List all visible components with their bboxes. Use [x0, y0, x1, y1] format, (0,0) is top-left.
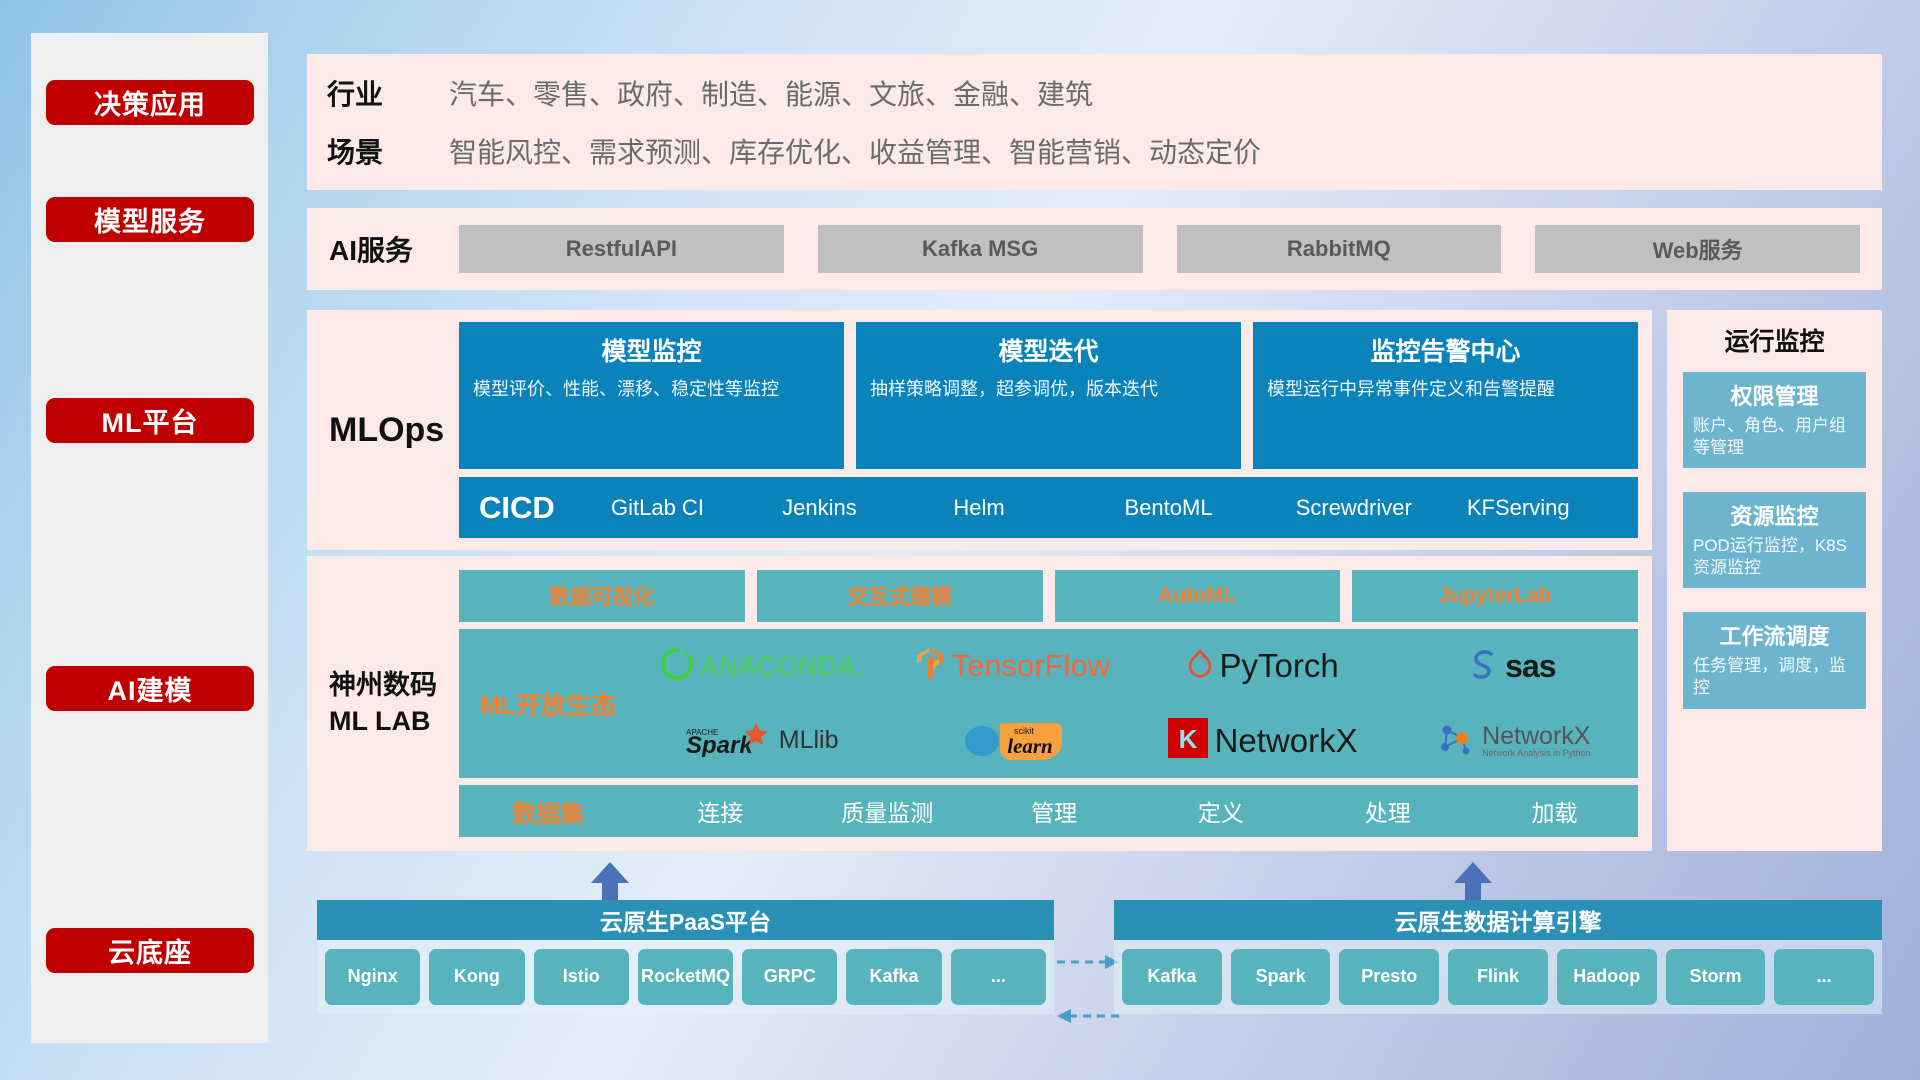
- ai-service-label: AI服务: [307, 229, 459, 269]
- card-body: 模型评价、性能、漂移、稳定性等监控: [473, 377, 830, 401]
- bidirectional-exchange-arrows-icon: [1057, 948, 1119, 1030]
- industry-scenario-values: 汽车、零售、政府、制造、能源、文旅、金融、建筑 智能风控、需求预测、库存优化、收…: [449, 64, 1882, 180]
- card-title: 监控告警中心: [1370, 332, 1520, 368]
- industry-label: 行业: [327, 64, 449, 122]
- ml-open-ecosystem-band: ML开放生态 ANACONDA.: [459, 629, 1638, 778]
- mlops-card-model-monitoring[interactable]: 模型监控 模型评价、性能、漂移、稳定性等监控: [459, 322, 844, 469]
- tool-chip-jupyterlab[interactable]: JupyterLab: [1352, 570, 1638, 622]
- cicd-item-group: GitLab CI Jenkins Helm BentoML Screwdriv…: [611, 494, 1638, 522]
- engine-item-group: Kafka Spark Presto Flink Hadoop Storm ..…: [1114, 940, 1882, 1014]
- card-body: 账户、角色、用户组等管理: [1693, 415, 1856, 459]
- runtime-monitoring-panel: 运行监控 权限管理 账户、角色、用户组等管理 资源监控 POD运行监控，K8S资…: [1667, 310, 1882, 851]
- tool-chip-interactive-modeling[interactable]: 交互式建模: [757, 570, 1043, 622]
- industry-scenario-labels: 行业 场景: [307, 64, 449, 180]
- svg-text:Spark: Spark: [686, 732, 754, 757]
- paas-item-kafka[interactable]: Kafka: [846, 949, 941, 1005]
- engine-item-kafka[interactable]: Kafka: [1122, 949, 1222, 1005]
- data-compute-engine-header: 云原生数据计算引擎: [1114, 900, 1882, 940]
- keras-mark-icon: K: [1168, 718, 1208, 763]
- logo-spark-mllib[interactable]: APACHE Spark MLlib: [637, 719, 887, 762]
- rail-chip-label: AI建模: [108, 669, 193, 708]
- mlops-label: MLOps: [307, 310, 459, 550]
- engine-item-more[interactable]: ...: [1774, 949, 1874, 1005]
- ml-lab-label: 神州数码 ML LAB: [307, 556, 459, 851]
- card-body: POD运行监控，K8S资源监控: [1693, 535, 1856, 579]
- industry-value: 汽车、零售、政府、制造、能源、文旅、金融、建筑: [449, 64, 1882, 122]
- tensorflow-wordmark: TensorFlow: [952, 648, 1111, 684]
- paas-item-grpc[interactable]: GRPC: [742, 949, 837, 1005]
- dataset-title: 数据集: [459, 794, 637, 829]
- keras-wordmark: NetworkX: [1215, 722, 1358, 760]
- card-body: 抽样策略调整，超参调优，版本迭代: [870, 377, 1227, 401]
- rail-chip-model-service[interactable]: 模型服务: [46, 197, 254, 242]
- ecosystem-logo-row: APACHE Spark MLlib: [637, 704, 1638, 779]
- dataset-item-load[interactable]: 加载: [1471, 794, 1638, 828]
- paas-item-group: Nginx Kong Istio RocketMQ GRPC Kafka ...: [317, 940, 1054, 1014]
- anaconda-wordmark: ANACONDA.: [701, 651, 865, 682]
- mllib-wordmark: MLlib: [779, 726, 839, 755]
- tool-chip-data-visualization[interactable]: 数据可视化: [459, 570, 745, 622]
- rail-chip-label: 模型服务: [94, 200, 206, 239]
- paas-item-nginx[interactable]: Nginx: [325, 949, 420, 1005]
- logo-scikit-learn[interactable]: scikit learn: [887, 715, 1137, 766]
- paas-item-rocketmq[interactable]: RocketMQ: [638, 949, 733, 1005]
- industry-scenario-panel: 行业 场景 汽车、零售、政府、制造、能源、文旅、金融、建筑 智能风控、需求预测、…: [307, 54, 1882, 190]
- mlops-card-group: 模型监控 模型评价、性能、漂移、稳定性等监控 模型迭代 抽样策略调整，超参调优，…: [459, 322, 1638, 469]
- scenario-value: 智能风控、需求预测、库存优化、收益管理、智能营销、动态定价: [449, 122, 1882, 180]
- dataset-bar: 数据集 连接 质量监测 管理 定义 处理 加载: [459, 785, 1638, 837]
- rail-chip-ml-platform[interactable]: ML平台: [46, 398, 254, 443]
- cicd-item-gitlab-ci[interactable]: GitLab CI: [611, 494, 782, 522]
- card-title: 模型迭代: [998, 332, 1098, 368]
- cicd-item-bentoml[interactable]: BentoML: [1125, 494, 1296, 522]
- logo-keras[interactable]: K NetworkX: [1138, 718, 1388, 763]
- ml-open-ecosystem-label: ML开放生态: [459, 686, 637, 722]
- paas-item-kong[interactable]: Kong: [429, 949, 524, 1005]
- engine-item-hadoop[interactable]: Hadoop: [1557, 949, 1657, 1005]
- engine-item-spark[interactable]: Spark: [1231, 949, 1331, 1005]
- paas-item-istio[interactable]: Istio: [534, 949, 629, 1005]
- mlops-panel: MLOps 模型监控 模型评价、性能、漂移、稳定性等监控 模型迭代 抽样策略调整…: [307, 310, 1652, 550]
- networkx-mark-icon: [1435, 718, 1475, 763]
- rail-chip-cloud-base[interactable]: 云底座: [46, 928, 254, 973]
- networkx-wordmark: NetworkX: [1482, 724, 1591, 749]
- paas-platform-panel: 云原生PaaS平台 Nginx Kong Istio RocketMQ GRPC…: [317, 900, 1054, 1014]
- card-title: 工作流调度: [1693, 619, 1856, 651]
- scikit-learn-mark-icon: scikit learn: [960, 715, 1064, 766]
- svg-text:learn: learn: [1008, 734, 1054, 758]
- cicd-item-kfserving[interactable]: KFServing: [1467, 494, 1638, 522]
- cicd-title: CICD: [459, 490, 611, 526]
- cloud-foundation-zone: 云原生PaaS平台 Nginx Kong Istio RocketMQ GRPC…: [307, 862, 1920, 1052]
- sas-wordmark: sas: [1505, 648, 1555, 685]
- rail-chip-label: 云底座: [108, 931, 192, 970]
- ai-service-panel: AI服务 RestfulAPI Kafka MSG RabbitMQ Web服务: [307, 208, 1882, 290]
- ecosystem-logo-grid: ANACONDA. TensorFlow PyTor: [637, 629, 1638, 778]
- tensorflow-mark-icon: [915, 647, 945, 686]
- scenario-label: 场景: [327, 122, 449, 180]
- ai-service-chip-group: RestfulAPI Kafka MSG RabbitMQ Web服务: [459, 225, 1882, 273]
- rail-chip-decision-apps[interactable]: 决策应用: [46, 80, 254, 125]
- spark-mark-icon: APACHE Spark: [686, 719, 772, 762]
- tool-chip-automl[interactable]: AutoML: [1055, 570, 1341, 622]
- dataset-item-define[interactable]: 定义: [1137, 794, 1304, 828]
- networkx-wordmark-block: NetworkX Network Analysis in Python: [1482, 724, 1591, 758]
- ml-lab-content: 数据可视化 交互式建模 AutoML JupyterLab ML开放生态 ANA…: [459, 556, 1652, 851]
- logo-pytorch[interactable]: PyTorch: [1138, 647, 1388, 685]
- mlops-card-model-iteration[interactable]: 模型迭代 抽样策略调整，超参调优，版本迭代: [856, 322, 1241, 469]
- logo-networkx[interactable]: NetworkX Network Analysis in Python: [1388, 718, 1638, 763]
- cicd-item-screwdriver[interactable]: Screwdriver: [1296, 494, 1467, 522]
- ai-service-chip-restfulapi[interactable]: RestfulAPI: [459, 225, 784, 273]
- card-title: 权限管理: [1693, 379, 1856, 411]
- monitor-card-resource-monitoring[interactable]: 资源监控 POD运行监控，K8S资源监控: [1683, 492, 1866, 588]
- dataset-item-group: 连接 质量监测 管理 定义 处理 加载: [637, 794, 1638, 828]
- mlops-content: 模型监控 模型评价、性能、漂移、稳定性等监控 模型迭代 抽样策略调整，超参调优，…: [459, 310, 1652, 550]
- cicd-item-helm[interactable]: Helm: [953, 494, 1124, 522]
- ai-service-chip-kafka-msg[interactable]: Kafka MSG: [818, 225, 1143, 273]
- ecosystem-logo-row: ANACONDA. TensorFlow PyTor: [637, 629, 1638, 704]
- monitor-card-workflow-scheduling[interactable]: 工作流调度 任务管理，调度，监控: [1683, 612, 1866, 708]
- svg-text:K: K: [1178, 724, 1197, 754]
- card-title: 模型监控: [601, 332, 701, 368]
- logo-tensorflow[interactable]: TensorFlow: [887, 647, 1137, 686]
- pytorch-flame-icon: [1187, 648, 1213, 685]
- ai-service-chip-web-service[interactable]: Web服务: [1535, 225, 1860, 273]
- runtime-monitoring-title: 运行监控: [1683, 322, 1866, 358]
- engine-item-storm[interactable]: Storm: [1666, 949, 1766, 1005]
- card-title: 资源监控: [1693, 499, 1856, 531]
- monitor-card-permission-management[interactable]: 权限管理 账户、角色、用户组等管理: [1683, 372, 1866, 468]
- dataset-item-process[interactable]: 处理: [1304, 794, 1471, 828]
- engine-item-flink[interactable]: Flink: [1448, 949, 1548, 1005]
- ai-service-chip-rabbitmq[interactable]: RabbitMQ: [1177, 225, 1502, 273]
- logo-anaconda[interactable]: ANACONDA.: [637, 647, 887, 686]
- ml-lab-tool-chip-group: 数据可视化 交互式建模 AutoML JupyterLab: [459, 570, 1638, 622]
- logo-sas[interactable]: sas: [1388, 648, 1638, 685]
- engine-item-presto[interactable]: Presto: [1339, 949, 1439, 1005]
- pytorch-wordmark: PyTorch: [1220, 647, 1339, 685]
- mlops-card-alert-center[interactable]: 监控告警中心 模型运行中异常事件定义和告警提醒: [1253, 322, 1638, 469]
- paas-item-more[interactable]: ...: [951, 949, 1046, 1005]
- dataset-item-quality[interactable]: 质量监测: [804, 794, 971, 828]
- networkx-tagline: Network Analysis in Python: [1482, 749, 1591, 758]
- rail-chip-ai-modeling[interactable]: AI建模: [46, 666, 254, 711]
- card-body: 任务管理，调度，监控: [1693, 655, 1856, 699]
- ml-lab-label-line2: ML LAB: [329, 704, 459, 739]
- stack-layer-rail: 决策应用 模型服务 ML平台 AI建模 云底座: [31, 33, 268, 1043]
- ml-lab-panel: 神州数码 ML LAB 数据可视化 交互式建模 AutoML JupyterLa…: [307, 556, 1652, 851]
- cicd-bar: CICD GitLab CI Jenkins Helm BentoML Scre…: [459, 477, 1638, 538]
- paas-platform-header: 云原生PaaS平台: [317, 900, 1054, 940]
- rail-chip-label: ML平台: [102, 401, 199, 440]
- sas-mark-icon: [1470, 648, 1498, 685]
- cicd-item-jenkins[interactable]: Jenkins: [782, 494, 953, 522]
- dataset-item-connect[interactable]: 连接: [637, 794, 804, 828]
- ml-lab-label-line1: 神州数码: [329, 668, 459, 703]
- dataset-item-manage[interactable]: 管理: [971, 794, 1138, 828]
- card-body: 模型运行中异常事件定义和告警提醒: [1267, 377, 1624, 401]
- data-compute-engine-panel: 云原生数据计算引擎 Kafka Spark Presto Flink Hadoo…: [1114, 900, 1882, 1014]
- anaconda-mark-icon: [660, 647, 694, 686]
- rail-chip-label: 决策应用: [94, 83, 206, 122]
